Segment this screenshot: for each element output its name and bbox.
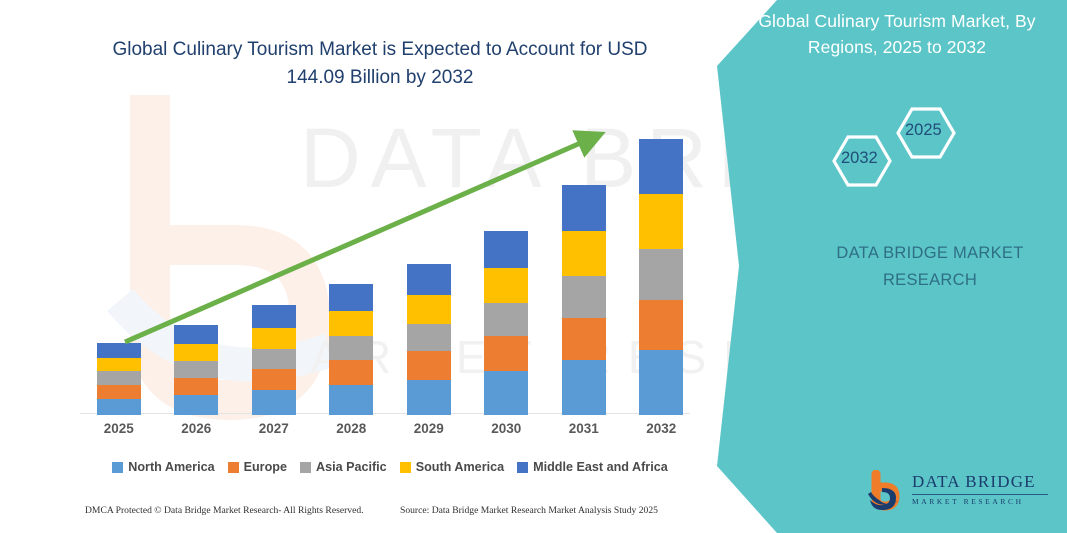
legend-swatch [228, 462, 239, 473]
segment-south-america [252, 328, 296, 349]
x-label-2031: 2031 [554, 421, 614, 436]
legend-item-north-america[interactable]: North America [112, 460, 214, 474]
segment-south-america [174, 344, 218, 361]
x-label-2025: 2025 [89, 421, 149, 436]
segment-north-america [562, 360, 606, 415]
legend-label: South America [416, 460, 504, 474]
x-label-2027: 2027 [244, 421, 304, 436]
segment-europe [562, 318, 606, 360]
segment-middle-east-and-africa [484, 231, 528, 267]
x-axis-labels: 20252026202720282029203020312032 [80, 421, 700, 445]
x-label-2029: 2029 [399, 421, 459, 436]
segment-north-america [174, 395, 218, 415]
segment-south-america [639, 194, 683, 249]
segment-north-america [252, 390, 296, 415]
segment-asia-pacific [329, 336, 373, 360]
x-label-2032: 2032 [631, 421, 691, 436]
segment-middle-east-and-africa [97, 343, 141, 358]
hexagon-badges: 2025 2032 [820, 95, 1000, 205]
footer-source: Source: Data Bridge Market Research Mark… [400, 505, 658, 516]
segment-south-america [484, 268, 528, 303]
segment-asia-pacific [174, 361, 218, 377]
segment-south-america [329, 311, 373, 336]
logo-name: DATA BRIDGE [912, 472, 1048, 492]
bar-2026 [174, 325, 218, 415]
logo-text: DATA BRIDGE MARKET RESEARCH [912, 472, 1048, 506]
panel-brand-line-1: DATA BRIDGE MARKET [790, 240, 1067, 267]
panel-brand-line-2: RESEARCH [790, 267, 1067, 294]
company-logo: DATA BRIDGE MARKET RESEARCH [862, 470, 1052, 518]
panel-title: Global Culinary Tourism Market, By Regio… [742, 8, 1052, 60]
segment-asia-pacific [252, 349, 296, 369]
x-label-2030: 2030 [476, 421, 536, 436]
legend-item-asia-pacific[interactable]: Asia Pacific [300, 460, 387, 474]
segment-asia-pacific [639, 249, 683, 300]
segment-north-america [407, 380, 451, 415]
segment-north-america [97, 399, 141, 415]
segment-europe [484, 336, 528, 371]
segment-europe [407, 351, 451, 380]
segment-north-america [484, 371, 528, 415]
segment-europe [639, 300, 683, 350]
footer: DMCA Protected © Data Bridge Market Rese… [0, 505, 720, 529]
segment-middle-east-and-africa [639, 139, 683, 194]
x-label-2026: 2026 [166, 421, 226, 436]
page-title: Global Culinary Tourism Market is Expect… [100, 36, 660, 92]
segment-south-america [562, 231, 606, 276]
segment-middle-east-and-africa [407, 264, 451, 295]
segment-asia-pacific [484, 303, 528, 337]
bar-2029 [407, 264, 451, 415]
legend-label: Europe [244, 460, 287, 474]
legend-label: Middle East and Africa [533, 460, 668, 474]
segment-asia-pacific [562, 276, 606, 317]
legend-swatch [112, 462, 123, 473]
segment-europe [252, 369, 296, 390]
segment-europe [329, 360, 373, 385]
segment-middle-east-and-africa [252, 305, 296, 327]
infographic-canvas: DATA BRIDGE MARKET RESEARCH Global Culin… [0, 0, 1067, 533]
segment-europe [174, 378, 218, 395]
legend-swatch [517, 462, 528, 473]
legend-label: Asia Pacific [316, 460, 387, 474]
segment-asia-pacific [407, 324, 451, 351]
legend-item-south-america[interactable]: South America [400, 460, 504, 474]
bar-2027 [252, 305, 296, 415]
footer-copyright: DMCA Protected © Data Bridge Market Rese… [85, 505, 364, 516]
bar-2031 [562, 185, 606, 415]
segment-north-america [639, 350, 683, 415]
bar-2025 [97, 343, 141, 415]
data-bridge-mark-icon [862, 470, 910, 516]
bar-2028 [329, 284, 373, 415]
legend-swatch [300, 462, 311, 473]
bar-2030 [484, 231, 528, 415]
legend-item-middle-east-and-africa[interactable]: Middle East and Africa [517, 460, 668, 474]
segment-middle-east-and-africa [562, 185, 606, 231]
hex-label-2032: 2032 [841, 149, 878, 168]
segment-asia-pacific [97, 371, 141, 385]
segment-middle-east-and-africa [174, 325, 218, 344]
segment-south-america [97, 358, 141, 372]
segment-europe [97, 385, 141, 399]
segment-north-america [329, 385, 373, 415]
hex-label-2025: 2025 [905, 121, 942, 140]
segment-south-america [407, 295, 451, 324]
x-label-2028: 2028 [321, 421, 381, 436]
chart-legend: North AmericaEuropeAsia PacificSouth Ame… [80, 455, 700, 479]
segment-middle-east-and-africa [329, 284, 373, 311]
bar-2032 [639, 139, 683, 415]
panel-brand: DATA BRIDGE MARKET RESEARCH [790, 240, 1067, 294]
logo-divider [912, 494, 1048, 495]
legend-swatch [400, 462, 411, 473]
stacked-bar-chart [80, 110, 700, 415]
legend-item-europe[interactable]: Europe [228, 460, 287, 474]
legend-label: North America [128, 460, 214, 474]
logo-tagline: MARKET RESEARCH [912, 497, 1048, 506]
